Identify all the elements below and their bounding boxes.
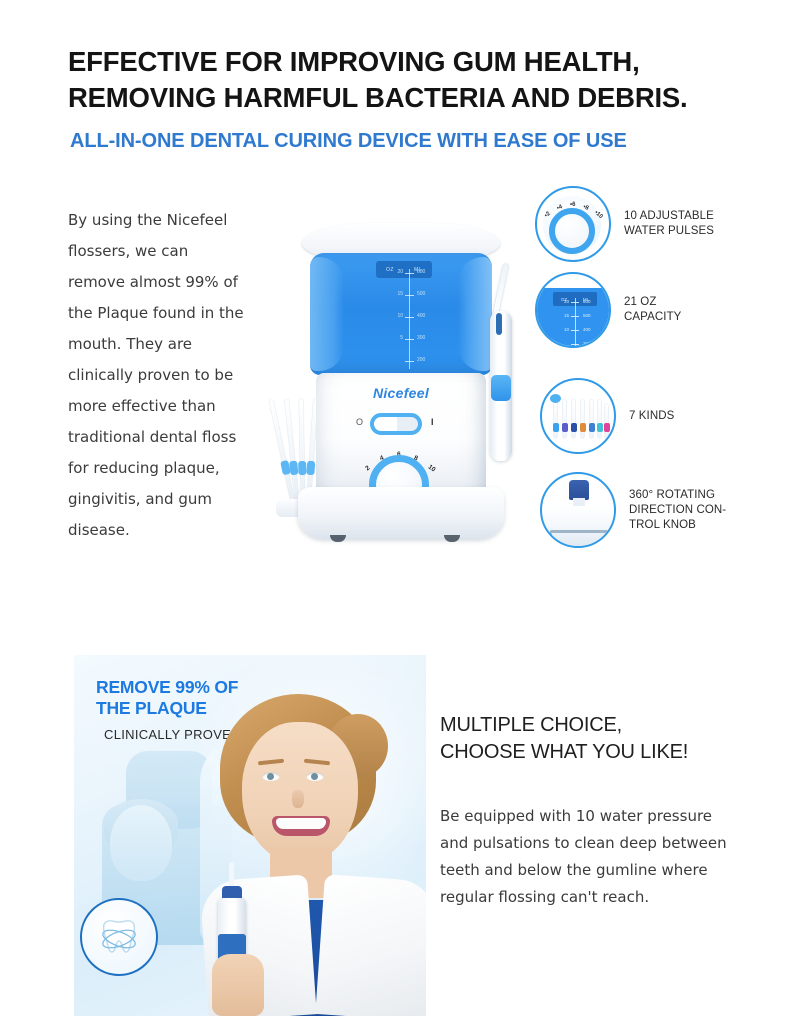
scale-ml-tick: 400: [417, 313, 433, 319]
scale-axis: [409, 269, 410, 369]
water-tank-icon: OZ ML 20 15 10 600 500 400 300: [535, 272, 611, 348]
child-head: [110, 805, 172, 881]
callout-rotating-knob: 360° ROTATING DIRECTION CON- TROL KNOB: [540, 472, 726, 548]
callout-nozzle-kinds: 7 KINDS: [540, 378, 674, 454]
callout-line: 21 OZ: [624, 295, 681, 310]
dial-mark: 2: [364, 465, 371, 473]
callout-label: 7 KINDS: [629, 409, 674, 424]
bottom-paragraph: Be equipped with 10 water pressure and p…: [440, 803, 740, 911]
power-switch[interactable]: [370, 413, 422, 435]
product-marketing-page: EFFECTIVE FOR IMPROVING GUM HEALTH, REMO…: [0, 0, 800, 1016]
clinical-proof-photo: REMOVE 99% OF THE PLAQUE CLINICALLY PROV…: [74, 655, 426, 1016]
bottom-right-content: MULTIPLE CHOICE, CHOOSE WHAT YOU LIKE! B…: [440, 712, 760, 926]
hand: [212, 954, 264, 1016]
scale-oz-tick: 20: [391, 269, 403, 275]
handle-pause-button[interactable]: [491, 375, 511, 401]
power-off-label: O: [356, 417, 363, 427]
reservoir-scale: 20 15 10 5 600 500 400 300 200: [393, 263, 437, 371]
eye: [306, 772, 324, 781]
scale-ml-tick: 300: [417, 335, 433, 341]
handle-collar: [496, 313, 502, 335]
scale-ml-tick: 500: [417, 291, 433, 297]
callout-label: 21 OZ CAPACITY: [624, 295, 681, 325]
bubble-oz-tick: 10: [557, 327, 569, 332]
callout-line: WATER PULSES: [624, 224, 714, 239]
power-on-label: I: [431, 417, 434, 427]
scale-oz-tick: 10: [391, 313, 403, 319]
callout-line: 360° ROTATING: [629, 488, 726, 503]
nozzle-tips-icon: [540, 378, 616, 454]
eye: [262, 772, 280, 781]
intro-paragraph: By using the Nicefeel flossers, we can r…: [68, 205, 244, 546]
callout-line: 10 ADJUSTABLE: [624, 209, 714, 224]
product-base: [298, 487, 504, 539]
bubble-ml-tick: 500: [583, 313, 591, 318]
brand-logo: Nicefeel: [316, 385, 486, 401]
bottom-heading-line: MULTIPLE CHOICE,: [440, 712, 760, 739]
dentist-portrait: [196, 686, 426, 1016]
bottom-heading: MULTIPLE CHOICE, CHOOSE WHAT YOU LIKE!: [440, 712, 760, 766]
bubble-ml-tick: 400: [583, 327, 591, 332]
product-image-water-flosser: OZ ML 20 15 10 5 600 500 400 300 200 Nic…: [268, 205, 536, 565]
scale-oz-tick: 15: [391, 291, 403, 297]
lab-coat-right: [315, 874, 426, 1016]
bubble-ml-tick: 600: [583, 299, 591, 304]
callout-label: 360° ROTATING DIRECTION CON- TROL KNOB: [629, 488, 726, 533]
control-dial-icon: •2 •4 •6 •8 •10: [535, 186, 611, 262]
base-foot: [444, 535, 460, 542]
callout-line: 7 KINDS: [629, 409, 674, 424]
dial-mark: 10: [427, 464, 437, 474]
callout-label: 10 ADJUSTABLE WATER PULSES: [624, 209, 714, 239]
bubble-oz-tick: 15: [557, 313, 569, 318]
callout-line: DIRECTION CON-: [629, 503, 726, 518]
callout-tank-capacity: OZ ML 20 15 10 600 500 400 300 21 OZ CAP…: [535, 272, 681, 348]
scale-ml-tick: 600: [417, 269, 433, 275]
nose: [292, 790, 304, 808]
smile: [272, 816, 330, 836]
scale-ml-tick: 200: [417, 357, 433, 363]
page-subtitle: ALL-IN-ONE DENTAL CURING DEVICE WITH EAS…: [70, 129, 770, 153]
page-title: EFFECTIVE FOR IMPROVING GUM HEALTH, REMO…: [68, 44, 768, 114]
bubble-oz-tick: 20: [557, 299, 569, 304]
callout-line: TROL KNOB: [629, 518, 726, 533]
callout-adjustable-water-pulses: •2 •4 •6 •8 •10 10 ADJUSTABLE WATER PULS…: [535, 186, 714, 262]
bottom-heading-line: CHOOSE WHAT YOU LIKE!: [440, 739, 760, 766]
rotating-knob-icon: [540, 472, 616, 548]
base-foot: [330, 535, 346, 542]
tooth-shield-icon: [80, 898, 158, 976]
scale-oz-tick: 5: [391, 335, 403, 341]
callout-line: CAPACITY: [624, 310, 681, 325]
bubble-ml-tick: 300: [583, 341, 591, 346]
